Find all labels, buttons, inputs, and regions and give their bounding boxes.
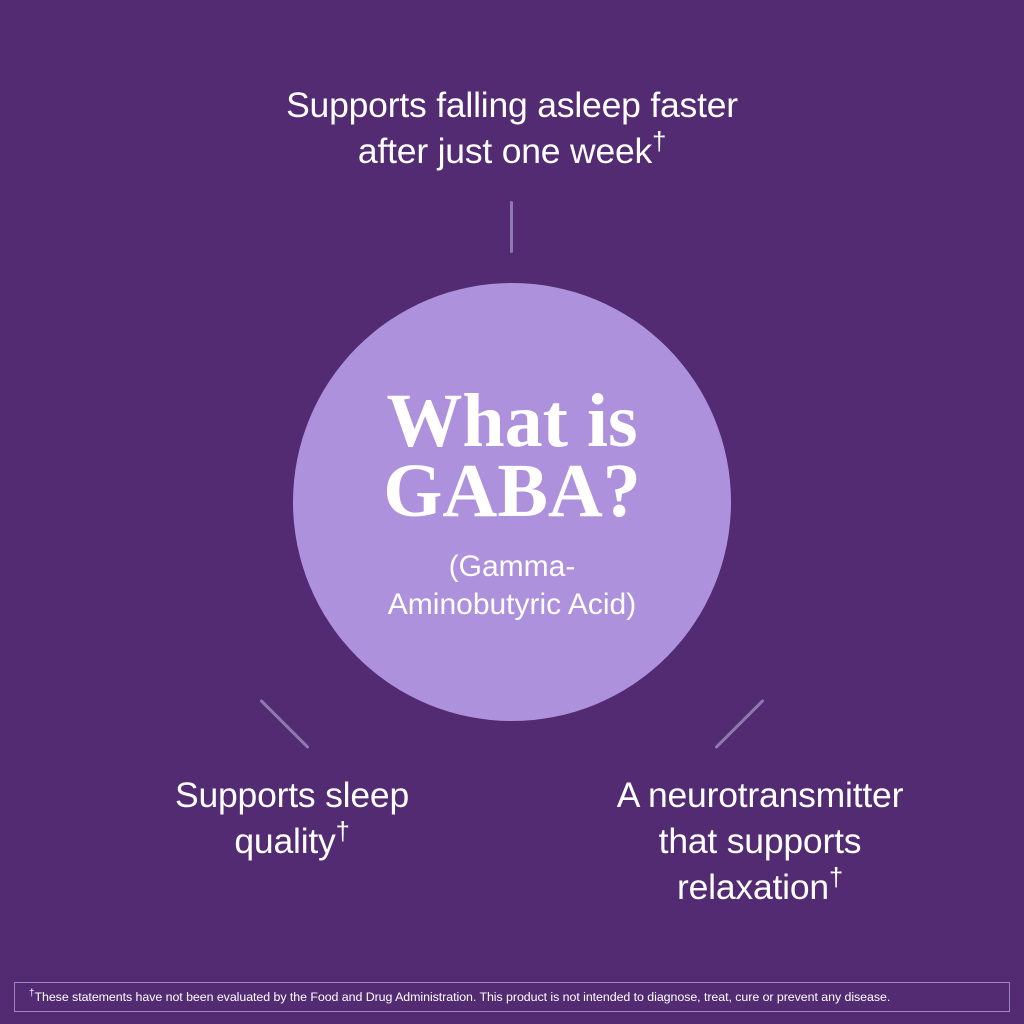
circle-title: What is GABA? — [383, 386, 641, 526]
disclaimer-box: †These statements have not been evaluate… — [14, 982, 1010, 1012]
callout-top-line-2: after just one week — [358, 131, 652, 171]
connector-line-top — [510, 201, 513, 253]
callout-bottom-right-line-1: A neurotransmitter — [617, 775, 903, 815]
footnote-marker-icon: † — [652, 128, 666, 156]
connector-line-bottom-left — [259, 699, 309, 749]
center-circle: What is GABA? (Gamma-Aminobutyric Acid) — [293, 283, 731, 721]
callout-bottom-left-line-1: Supports sleep — [175, 775, 409, 815]
disclaimer-text: †These statements have not been evaluate… — [29, 990, 890, 1004]
disclaimer-body: These statements have not been evaluated… — [34, 990, 890, 1004]
connector-line-bottom-right — [714, 699, 764, 749]
callout-top-line-1: Supports falling asleep faster — [286, 85, 738, 125]
callout-bottom-left: Supports sleep quality† — [46, 772, 538, 864]
callout-bottom-right-line-2: that supports — [659, 821, 862, 861]
callout-bottom-right: A neurotransmitter that supports relaxat… — [524, 772, 996, 910]
gaba-infographic: Supports falling asleep faster after jus… — [0, 0, 1024, 1024]
circle-subtitle: (Gamma-Aminobutyric Acid) — [362, 548, 662, 624]
footnote-marker-icon: † — [336, 818, 350, 846]
circle-title-line-2: GABA? — [383, 449, 641, 533]
footnote-marker-icon: † — [829, 864, 843, 892]
callout-top: Supports falling asleep faster after jus… — [162, 82, 862, 174]
callout-bottom-right-line-3: relaxation — [677, 867, 829, 907]
callout-bottom-left-line-2: quality — [234, 821, 335, 861]
